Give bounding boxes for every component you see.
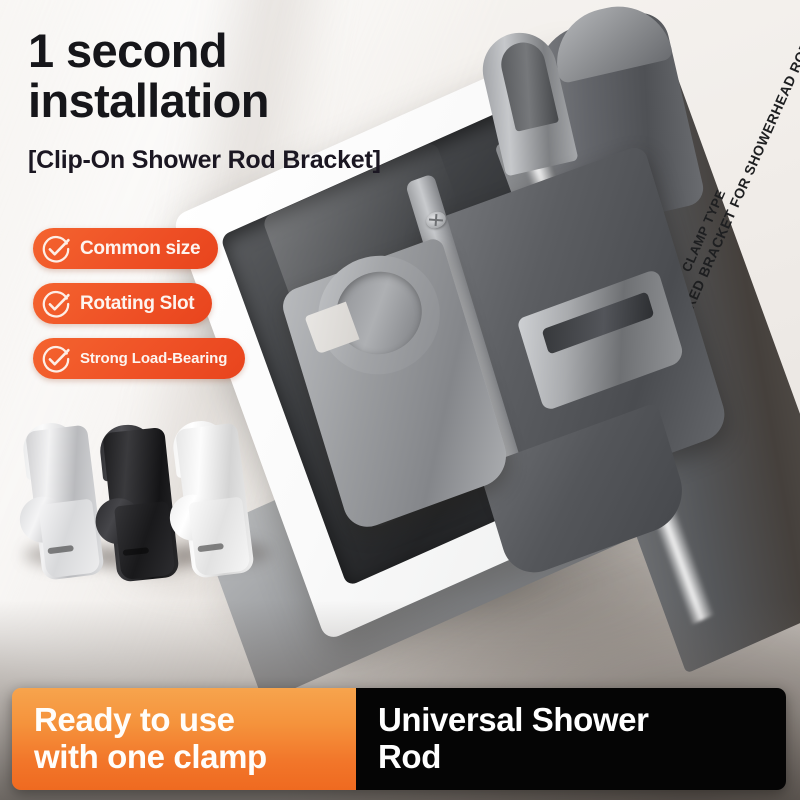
check-circle-icon — [41, 289, 71, 319]
check-circle-icon — [41, 234, 71, 264]
feature-badge-list: Common size Rotating Slot Strong Load-Be… — [33, 228, 245, 379]
page-title: 1 second installation — [28, 26, 448, 127]
banner-left-line-1: Ready to use — [34, 701, 235, 738]
banner-right-line-1: Universal Shower — [378, 701, 649, 738]
banner-right-line-2: Rod — [378, 738, 441, 775]
banner-right-text: Universal Shower Rod — [378, 702, 649, 776]
product-marketing-image: CLAMP TYPE FIXED BRACKET FOR SHOWERHEAD … — [0, 0, 800, 800]
clip-face — [38, 498, 101, 578]
product-subtitle: [Clip-On Shower Rod Bracket] — [28, 146, 381, 175]
banner-left-text: Ready to use with one clamp — [34, 702, 267, 776]
feature-badge-label: Common size — [80, 238, 200, 260]
clip-face — [188, 496, 251, 576]
headline-line-2: installation — [28, 74, 269, 127]
check-circle-icon — [41, 344, 71, 374]
feature-badge-strong-load-bearing: Strong Load-Bearing — [33, 338, 245, 379]
banner-right-panel: Universal Shower Rod — [356, 688, 786, 790]
headline-line-1: 1 second — [28, 24, 227, 77]
bottom-banner: Ready to use with one clamp Universal Sh… — [12, 688, 786, 790]
feature-badge-label: Strong Load-Bearing — [80, 350, 227, 367]
color-variant-group — [18, 420, 268, 595]
banner-left-panel: Ready to use with one clamp — [12, 688, 356, 790]
feature-badge-label: Rotating Slot — [80, 293, 194, 315]
feature-badge-common-size: Common size — [33, 228, 218, 269]
banner-left-line-2: with one clamp — [34, 738, 267, 775]
feature-badge-rotating-slot: Rotating Slot — [33, 283, 212, 324]
clip-face — [114, 501, 175, 580]
